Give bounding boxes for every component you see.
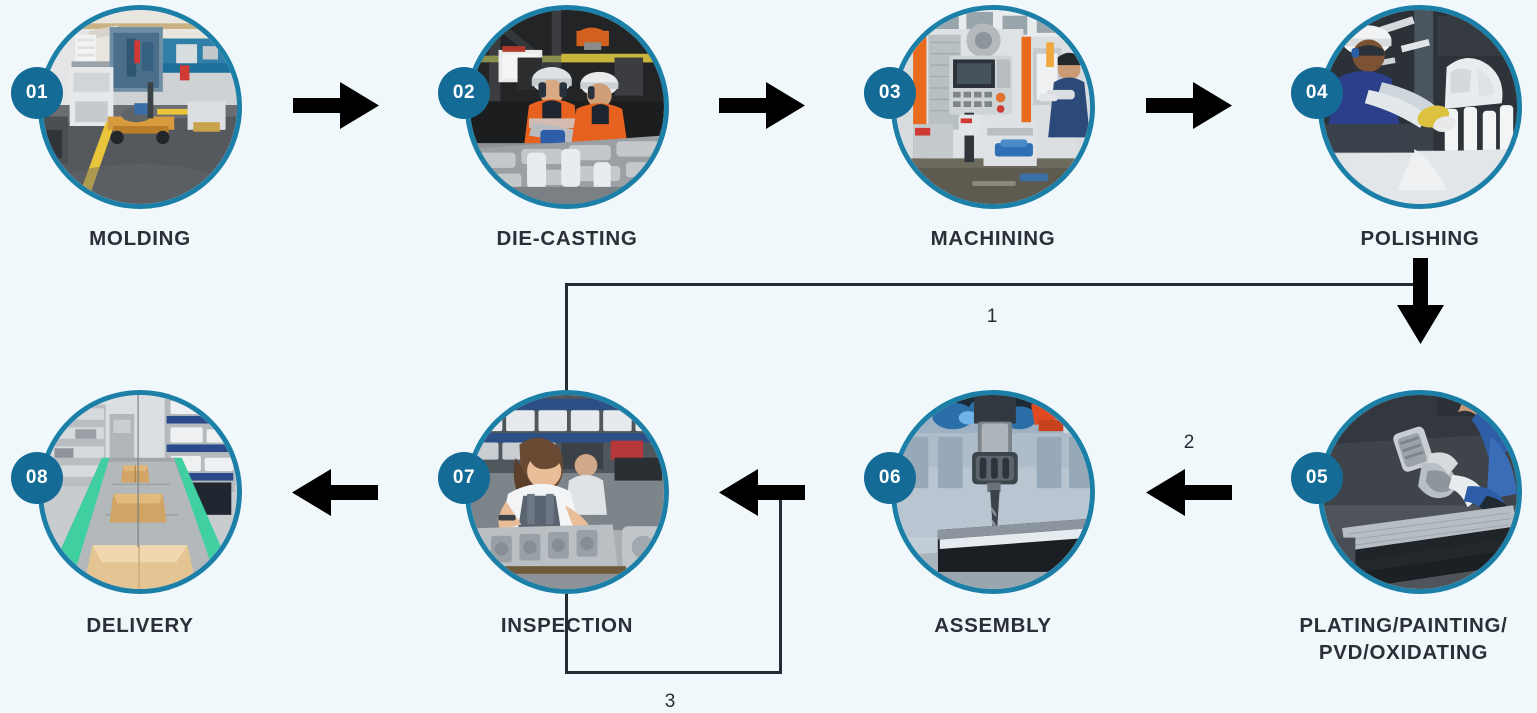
node-ring bbox=[38, 5, 242, 209]
node-ring bbox=[465, 390, 669, 594]
cnc-machining-photo bbox=[896, 10, 1090, 204]
process-node-assembly[interactable]: 06 bbox=[891, 390, 1095, 594]
node-label-assembly: ASSEMBLY bbox=[893, 612, 1093, 639]
arrow-polishing-to-plating bbox=[1397, 258, 1444, 344]
node-ring bbox=[891, 5, 1095, 209]
node-ring bbox=[891, 390, 1095, 594]
factory-molding-photo bbox=[43, 10, 237, 204]
node-ring bbox=[38, 390, 242, 594]
delivery-conveyor-photo bbox=[43, 395, 237, 589]
process-node-molding[interactable]: 01 bbox=[38, 5, 242, 209]
process-node-plating[interactable]: 05 bbox=[1318, 390, 1522, 594]
connector-one-horizontal bbox=[565, 283, 1421, 286]
spray-painting-photo bbox=[1323, 395, 1517, 589]
drill-assembly-photo bbox=[896, 395, 1090, 589]
connector-one-vertical bbox=[565, 283, 568, 391]
step-badge: 04 bbox=[1291, 67, 1343, 119]
process-node-polishing[interactable]: 04 bbox=[1318, 5, 1522, 209]
connector-two-label: 2 bbox=[1161, 432, 1217, 454]
connector-three-label: 3 bbox=[642, 691, 698, 713]
process-node-machining[interactable]: 03 bbox=[891, 5, 1095, 209]
polishing-worker-photo bbox=[1323, 10, 1517, 204]
node-ring bbox=[1318, 5, 1522, 209]
arrow-machining-to-polishing bbox=[1146, 82, 1232, 129]
node-label-polishing: POLISHING bbox=[1320, 225, 1520, 252]
step-badge: 06 bbox=[864, 452, 916, 504]
connector-three-left-vertical bbox=[565, 594, 568, 674]
node-label-molding: MOLDING bbox=[40, 225, 240, 252]
connector-three-horizontal bbox=[565, 671, 782, 674]
connector-three-right-vertical bbox=[779, 493, 782, 674]
step-badge: 02 bbox=[438, 67, 490, 119]
node-label-delivery: DELIVERY bbox=[40, 612, 240, 639]
step-badge: 07 bbox=[438, 452, 490, 504]
node-label-die-casting: DIE-CASTING bbox=[467, 225, 667, 252]
node-label-plating: PLATING/PAINTING/ PVD/OXIDATING bbox=[1270, 612, 1537, 666]
process-node-delivery[interactable]: 08 bbox=[38, 390, 242, 594]
process-node-inspection[interactable]: 07 bbox=[465, 390, 669, 594]
step-badge: 03 bbox=[864, 67, 916, 119]
node-ring bbox=[1318, 390, 1522, 594]
step-badge: 08 bbox=[11, 452, 63, 504]
arrow-plating-to-assembly bbox=[1146, 469, 1232, 516]
arrow-diecasting-to-machining bbox=[719, 82, 805, 129]
step-badge: 01 bbox=[11, 67, 63, 119]
die-casting-workers-photo bbox=[470, 10, 664, 204]
arrow-molding-to-diecasting bbox=[293, 82, 379, 129]
process-flow-diagram: 01 MOLDING bbox=[0, 0, 1537, 713]
step-badge: 05 bbox=[1291, 452, 1343, 504]
arrow-inspection-to-delivery bbox=[292, 469, 378, 516]
arrow-assembly-to-inspection bbox=[719, 469, 805, 516]
node-ring bbox=[465, 5, 669, 209]
node-label-machining: MACHINING bbox=[893, 225, 1093, 252]
process-node-die-casting[interactable]: 02 bbox=[465, 5, 669, 209]
connector-one-label: 1 bbox=[962, 306, 1022, 328]
inspection-worker-photo bbox=[470, 395, 664, 589]
